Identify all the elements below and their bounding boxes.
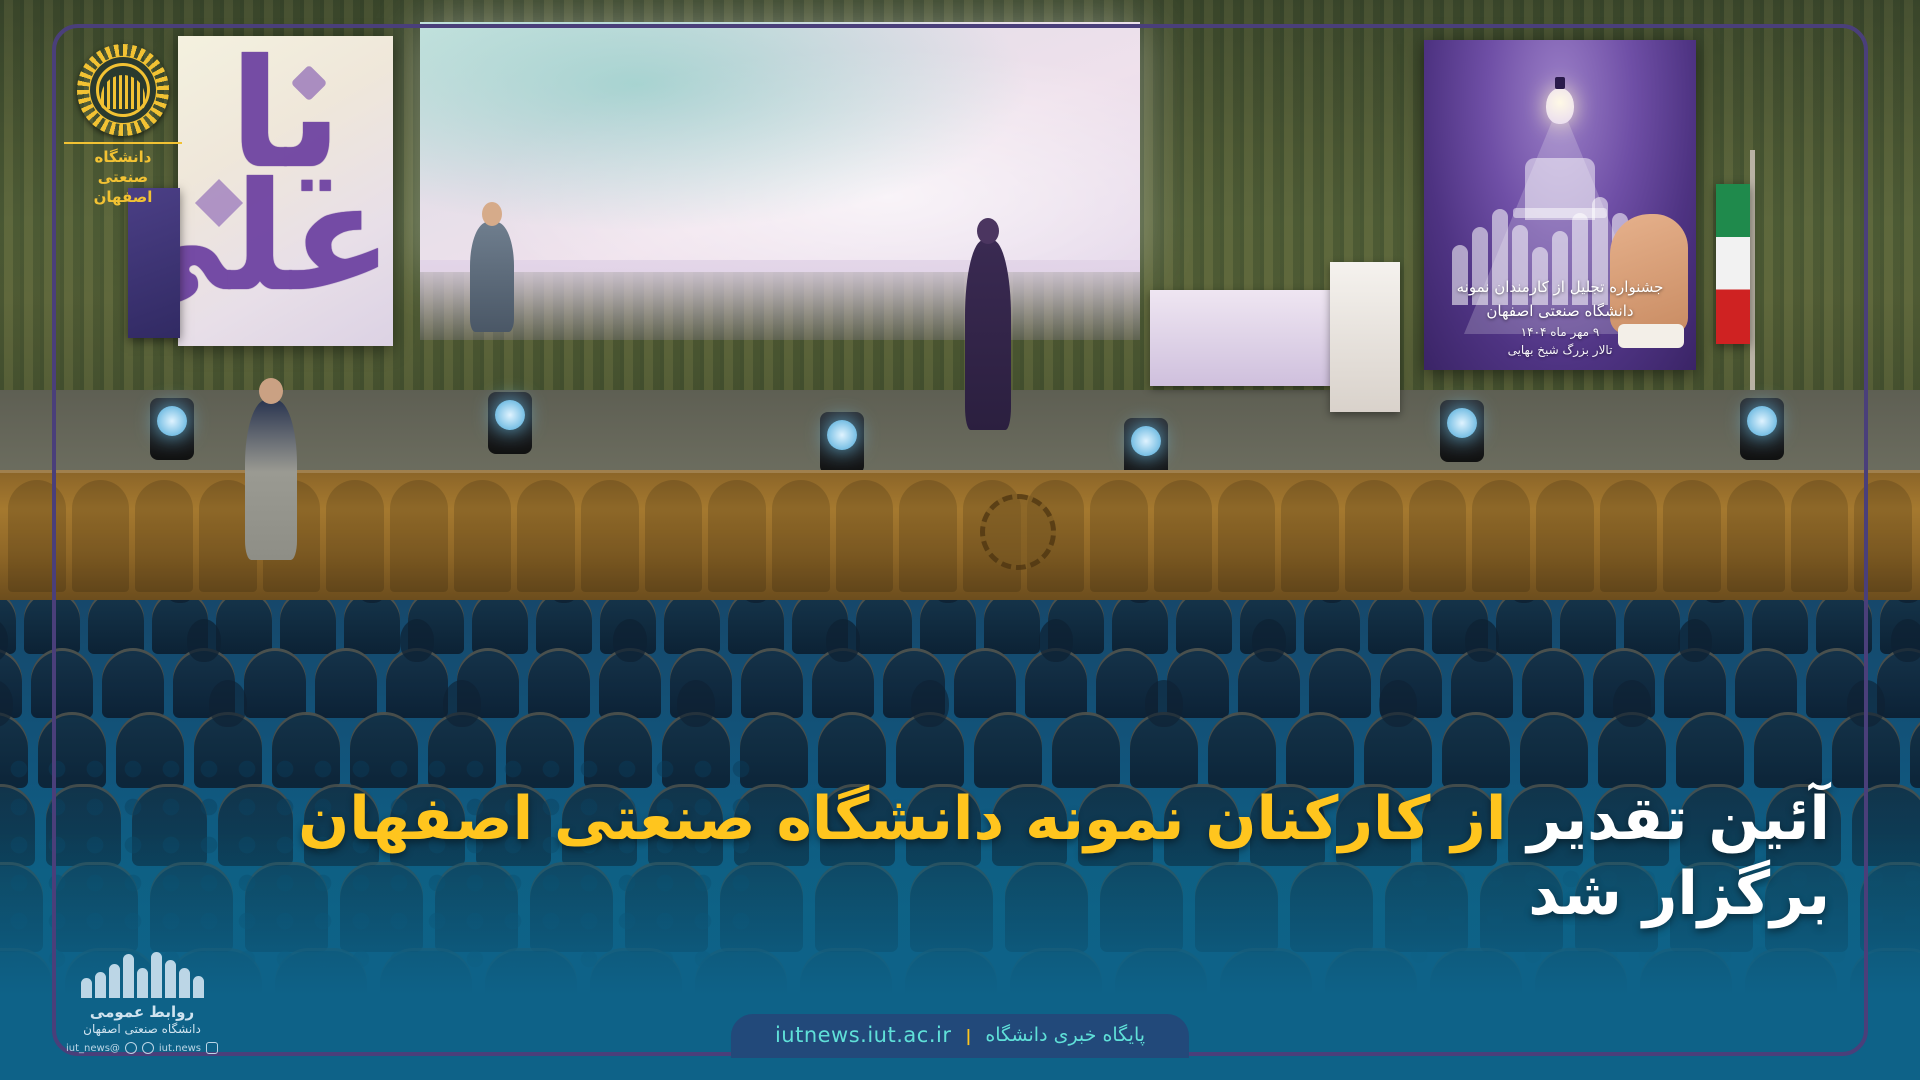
- pr-line-1: روابط عمومی: [62, 1003, 222, 1021]
- stage-light-icon: [820, 412, 864, 474]
- telegram-icon[interactable]: [142, 1042, 154, 1054]
- person-host: [965, 240, 1011, 430]
- headline-highlight: از کارکنان نمونه دانشگاه صنعتی اصفهان: [298, 784, 1506, 854]
- seat: [1112, 600, 1168, 654]
- banner-subtitle: دانشگاه صنعتی اصفهان: [1424, 300, 1696, 323]
- site-url-bar[interactable]: پایگاه خبری دانشگاه | iutnews.iut.ac.ir: [731, 1014, 1189, 1058]
- audience-member-silhouette: [443, 680, 481, 727]
- university-logo-text: دانشگاه صنعتی اصفهان: [64, 142, 182, 207]
- seat: [536, 600, 592, 654]
- seat: [984, 600, 1040, 654]
- event-photo: یا علی بن الحسین جشنواره تجلیل از کارمند…: [0, 0, 1920, 660]
- seat: [102, 648, 164, 718]
- logo-line-3: اصفهان: [64, 188, 182, 208]
- footer-url[interactable]: iutnews.iut.ac.ir: [775, 1023, 952, 1047]
- whatsapp-icon[interactable]: [125, 1042, 137, 1054]
- audience-member-silhouette: [1678, 619, 1713, 662]
- seat: [974, 712, 1042, 788]
- audience-member-silhouette: [1891, 619, 1920, 662]
- public-relations-logo: روابط عمومی دانشگاه صنعتی اصفهان iut.new…: [62, 950, 222, 1054]
- projection-screen-lower: [420, 260, 1140, 340]
- audience-member-silhouette: [187, 619, 222, 662]
- seat: [528, 648, 590, 718]
- seat: [280, 600, 336, 654]
- audience-member-silhouette: [1379, 680, 1417, 727]
- footer-label: پایگاه خبری دانشگاه: [985, 1024, 1145, 1046]
- projection-screen: [420, 22, 1140, 272]
- calligraphy-banner: یا علی بن الحسین: [178, 36, 393, 346]
- seat: [856, 600, 912, 654]
- footer-separator: |: [965, 1026, 971, 1045]
- seat: [920, 600, 976, 654]
- awards-table: [1150, 290, 1330, 386]
- audience-member-silhouette: [613, 619, 648, 662]
- headline-prefix: آئین تقدیر: [1527, 784, 1830, 854]
- banner-venue: تالار بزرگ شیخ بهایی: [1424, 341, 1696, 360]
- banner-text-block: جشنواره تجلیل از کارمندان نمونه دانشگاه …: [1424, 276, 1696, 360]
- logo-line-2: صنعتی: [64, 168, 182, 188]
- seat: [1052, 712, 1120, 788]
- stage-light-icon: [150, 398, 194, 460]
- audience-member-silhouette: [1465, 619, 1500, 662]
- second-handle[interactable]: @iut_news: [66, 1043, 120, 1054]
- seat: [1286, 712, 1354, 788]
- audience-member-silhouette: [677, 680, 715, 727]
- news-card: یا علی بن الحسین جشنواره تجلیل از کارمند…: [0, 0, 1920, 1080]
- seat: [954, 648, 1016, 718]
- stage-light-icon: [1440, 400, 1484, 462]
- university-logo: دانشگاه صنعتی اصفهان: [64, 44, 182, 207]
- seat: [24, 600, 80, 654]
- lightbulb-icon: [1546, 88, 1574, 124]
- audience-member-silhouette: [1847, 680, 1885, 727]
- seat: [728, 600, 784, 654]
- seat: [1910, 712, 1920, 788]
- logo-fan-icon: [101, 75, 145, 109]
- seat: [1442, 712, 1510, 788]
- seat: [1208, 712, 1276, 788]
- seat: [31, 648, 93, 718]
- public-relations-skyline-icon: [62, 950, 222, 998]
- calligraphy-text: یا علی بن الحسین: [178, 36, 393, 346]
- person-sound-operator: [470, 222, 514, 332]
- seat: [1522, 648, 1584, 718]
- seat: [88, 600, 144, 654]
- seat: [1368, 600, 1424, 654]
- logo-line-1: دانشگاه: [64, 148, 182, 168]
- page-title: آئین تقدیر از کارکنان نمونه دانشگاه صنعت…: [120, 782, 1830, 932]
- seat: [1520, 712, 1588, 788]
- social-handles[interactable]: iut.news @iut_news: [62, 1042, 222, 1054]
- seat: [344, 600, 400, 654]
- stage-podium: [1330, 262, 1400, 412]
- pr-line-2: دانشگاه صنعتی اصفهان: [62, 1022, 222, 1036]
- seat: [1624, 600, 1680, 654]
- iran-flag-icon: [1716, 184, 1750, 344]
- stage-light-icon: [488, 392, 532, 454]
- audience-member-silhouette: [1613, 680, 1651, 727]
- instagram-handle[interactable]: iut.news: [159, 1043, 201, 1054]
- seat: [1309, 648, 1371, 718]
- audience-member-silhouette: [400, 619, 435, 662]
- seat: [1304, 600, 1360, 654]
- seat: [818, 712, 886, 788]
- event-backdrop-banner: جشنواره تجلیل از کارمندان نمونه دانشگاه …: [1424, 40, 1696, 370]
- seat: [741, 648, 803, 718]
- seat: [315, 648, 377, 718]
- seat: [1560, 600, 1616, 654]
- seat-row: [0, 600, 1920, 654]
- seat: [1735, 648, 1797, 718]
- seat: [244, 648, 306, 718]
- banner-date: ۹ مهر ماه ۱۴۰۴: [1424, 323, 1696, 342]
- university-flag: [128, 188, 180, 338]
- audience-member-silhouette: [1252, 619, 1287, 662]
- seat: [1676, 712, 1744, 788]
- university-seal-icon: [980, 494, 1056, 570]
- audience-member-silhouette: [826, 619, 861, 662]
- headline-suffix: برگزار شد: [1528, 859, 1830, 929]
- person-videographer: [245, 400, 297, 560]
- seat: [664, 600, 720, 654]
- seat: [1754, 712, 1822, 788]
- audience-member-silhouette: [911, 680, 949, 727]
- seat: [1176, 600, 1232, 654]
- seat: [1752, 600, 1808, 654]
- banner-title: جشنواره تجلیل از کارمندان نمونه: [1424, 276, 1696, 299]
- audience-member-silhouette: [1039, 619, 1074, 662]
- audience-member-silhouette: [1145, 680, 1183, 727]
- seat: [1816, 600, 1872, 654]
- audience-member-silhouette: [209, 680, 247, 727]
- seat: [216, 600, 272, 654]
- stage-light-icon: [1740, 398, 1784, 460]
- iut-gear-logo-icon: [77, 44, 169, 136]
- seat: [472, 600, 528, 654]
- seat: [1496, 600, 1552, 654]
- instagram-icon[interactable]: [206, 1042, 218, 1054]
